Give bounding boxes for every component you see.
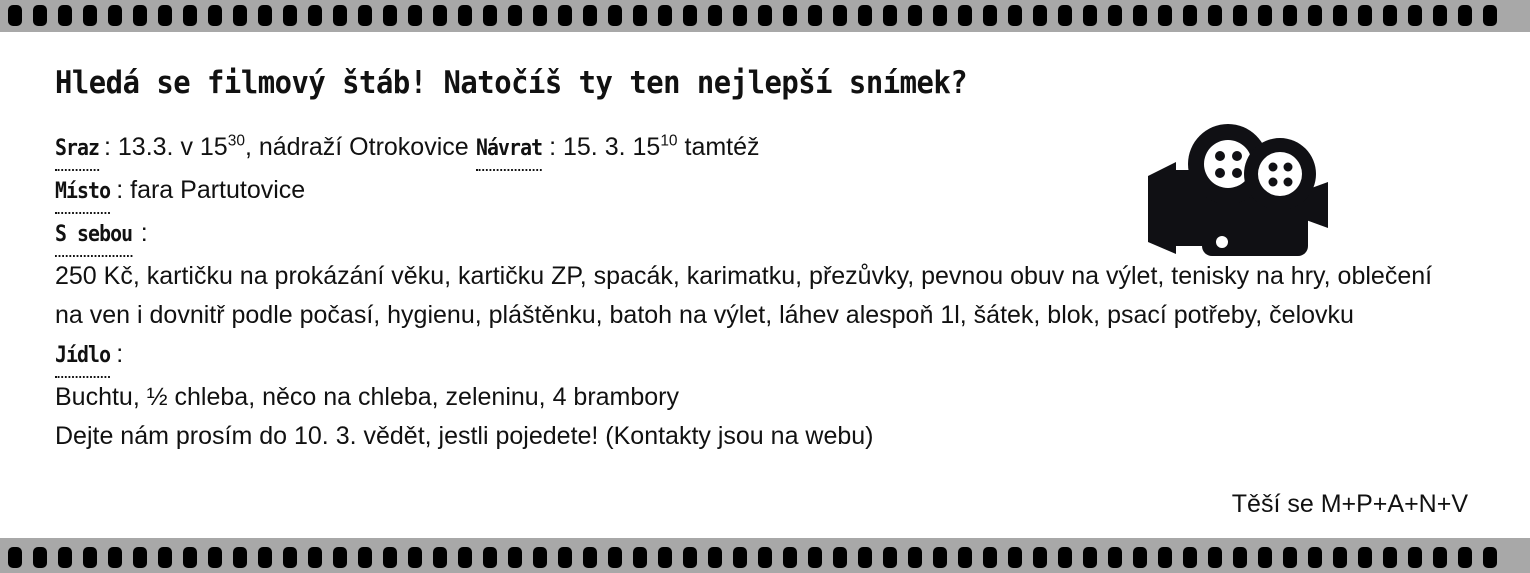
film-perforation <box>1258 5 1272 26</box>
film-perforation <box>533 547 547 568</box>
film-perforation <box>58 547 72 568</box>
film-perforation <box>1083 547 1097 568</box>
film-strip-top <box>0 0 1530 32</box>
film-perforation <box>808 5 822 26</box>
food-list-text: Buchtu, ½ chleba, něco na chleba, zeleni… <box>55 378 1465 417</box>
film-perforation <box>558 547 572 568</box>
packing-list-text: 250 Kč, kartičku na prokázání věku, kart… <box>55 257 1465 335</box>
film-perforation <box>958 5 972 26</box>
film-perforation <box>933 547 947 568</box>
film-perforation <box>1083 5 1097 26</box>
film-perforation <box>1058 547 1072 568</box>
film-perforation <box>1358 547 1372 568</box>
film-perforation <box>1183 547 1197 568</box>
label-sraz: Sraz <box>55 129 99 171</box>
label-jidlo: Jídlo <box>55 336 110 378</box>
label-misto: Místo <box>55 172 110 214</box>
film-perforation <box>258 547 272 568</box>
return-colon: : <box>549 133 563 161</box>
film-perforation <box>483 5 497 26</box>
movie-camera-icon <box>1146 124 1336 262</box>
film-perforation <box>1358 5 1372 26</box>
film-perforation <box>1483 547 1497 568</box>
film-strip-bottom <box>0 538 1530 573</box>
film-perforation <box>533 5 547 26</box>
film-perforation <box>958 547 972 568</box>
film-perforation <box>608 5 622 26</box>
film-perforation <box>383 5 397 26</box>
film-perforation <box>358 547 372 568</box>
film-perforation <box>658 5 672 26</box>
film-perforation <box>758 547 772 568</box>
film-perforation <box>158 547 172 568</box>
film-perforation <box>458 5 472 26</box>
film-perforation <box>308 5 322 26</box>
perforation-row-bottom <box>0 547 1530 568</box>
film-perforation <box>183 5 197 26</box>
film-perforation <box>1033 5 1047 26</box>
film-perforation <box>558 5 572 26</box>
film-perforation <box>383 547 397 568</box>
film-perforation <box>1433 5 1447 26</box>
film-perforation <box>1383 547 1397 568</box>
film-perforation <box>758 5 772 26</box>
film-perforation <box>1283 547 1297 568</box>
film-perforation <box>333 5 347 26</box>
film-perforation <box>283 5 297 26</box>
film-perforation <box>8 547 22 568</box>
film-perforation <box>1058 5 1072 26</box>
film-perforation <box>733 547 747 568</box>
film-perforation <box>783 5 797 26</box>
film-perforation <box>1133 547 1147 568</box>
film-perforation <box>1433 547 1447 568</box>
film-perforation <box>358 5 372 26</box>
film-perforation <box>808 547 822 568</box>
meeting-colon: : <box>104 133 118 161</box>
page-title: Hledá se filmový štáb! Natočíš ty ten ne… <box>55 65 967 101</box>
film-perforation <box>408 547 422 568</box>
film-perforation <box>1008 5 1022 26</box>
film-perforation <box>983 5 997 26</box>
film-perforation <box>458 547 472 568</box>
film-perforation <box>633 5 647 26</box>
film-perforation <box>33 5 47 26</box>
film-perforation <box>283 547 297 568</box>
film-perforation <box>633 547 647 568</box>
film-perforation <box>858 5 872 26</box>
film-perforation <box>1233 5 1247 26</box>
film-perforation <box>108 547 122 568</box>
film-perforation <box>258 5 272 26</box>
film-perforation <box>983 547 997 568</box>
poster-content: Hledá se filmový štáb! Natočíš ty ten ne… <box>0 32 1530 538</box>
film-perforation <box>433 5 447 26</box>
film-perforation <box>233 547 247 568</box>
film-perforation <box>483 547 497 568</box>
film-perforation <box>908 5 922 26</box>
film-perforation <box>933 5 947 26</box>
film-perforation <box>1233 547 1247 568</box>
film-perforation <box>8 5 22 26</box>
return-date: 15. 3. 15 <box>563 133 660 161</box>
return-time-minutes: 10 <box>660 133 677 150</box>
film-perforation <box>1258 547 1272 568</box>
food-heading-line: Jídlo: <box>55 335 1465 378</box>
film-perforation <box>133 5 147 26</box>
film-perforation <box>1208 5 1222 26</box>
film-perforation <box>83 5 97 26</box>
film-perforation <box>683 5 697 26</box>
meeting-date: 13.3. v 15 <box>118 133 228 161</box>
film-perforation <box>1108 5 1122 26</box>
film-perforation <box>208 5 222 26</box>
perforation-row-top <box>0 5 1530 26</box>
film-perforation <box>158 5 172 26</box>
film-perforation <box>1108 547 1122 568</box>
film-perforation <box>583 547 597 568</box>
film-perforation <box>1183 5 1197 26</box>
packing-colon: : <box>141 219 148 247</box>
label-navrat: Návrat <box>476 129 542 171</box>
film-perforation <box>883 547 897 568</box>
film-perforation <box>433 547 447 568</box>
film-perforation <box>308 547 322 568</box>
film-perforation <box>833 547 847 568</box>
film-perforation <box>1008 547 1022 568</box>
film-perforation <box>1333 5 1347 26</box>
film-perforation <box>83 547 97 568</box>
signature-text: Těší se M+P+A+N+V <box>1232 490 1468 519</box>
film-perforation <box>708 547 722 568</box>
film-perforation <box>333 547 347 568</box>
film-perforation <box>1158 5 1172 26</box>
film-perforation <box>1483 5 1497 26</box>
film-perforation <box>1408 5 1422 26</box>
film-perforation <box>408 5 422 26</box>
film-perforation <box>1308 5 1322 26</box>
meeting-place: , nádraží Otrokovice <box>245 133 476 161</box>
film-perforation <box>233 5 247 26</box>
return-place: tamtéž <box>678 133 760 161</box>
film-perforation <box>733 5 747 26</box>
film-perforation <box>1133 5 1147 26</box>
film-perforation <box>833 5 847 26</box>
film-perforation <box>108 5 122 26</box>
film-perforation <box>583 5 597 26</box>
film-perforation <box>1333 547 1347 568</box>
film-perforation <box>508 547 522 568</box>
label-s-sebou: S sebou <box>55 215 132 257</box>
film-perforation <box>783 547 797 568</box>
film-perforation <box>58 5 72 26</box>
food-colon: : <box>116 340 123 368</box>
location-value: : fara Partutovice <box>116 176 305 204</box>
film-perforation <box>1408 547 1422 568</box>
film-perforation <box>1383 5 1397 26</box>
film-perforation <box>33 547 47 568</box>
film-perforation <box>1208 547 1222 568</box>
film-perforation <box>883 5 897 26</box>
film-perforation <box>1458 547 1472 568</box>
film-perforation <box>183 547 197 568</box>
meeting-time-minutes: 30 <box>228 133 245 150</box>
film-perforation <box>908 547 922 568</box>
film-perforation <box>1308 547 1322 568</box>
film-perforation <box>683 547 697 568</box>
film-perforation <box>1158 547 1172 568</box>
film-perforation <box>1283 5 1297 26</box>
film-perforation <box>133 547 147 568</box>
film-perforation <box>208 547 222 568</box>
film-perforation <box>608 547 622 568</box>
film-poster: Hledá se filmový štáb! Natočíš ty ten ne… <box>0 0 1530 573</box>
film-perforation <box>858 547 872 568</box>
rsvp-text: Dejte nám prosím do 10. 3. vědět, jestli… <box>55 417 1465 456</box>
film-perforation <box>708 5 722 26</box>
film-perforation <box>1458 5 1472 26</box>
film-perforation <box>1033 547 1047 568</box>
film-perforation <box>508 5 522 26</box>
film-perforation <box>658 547 672 568</box>
